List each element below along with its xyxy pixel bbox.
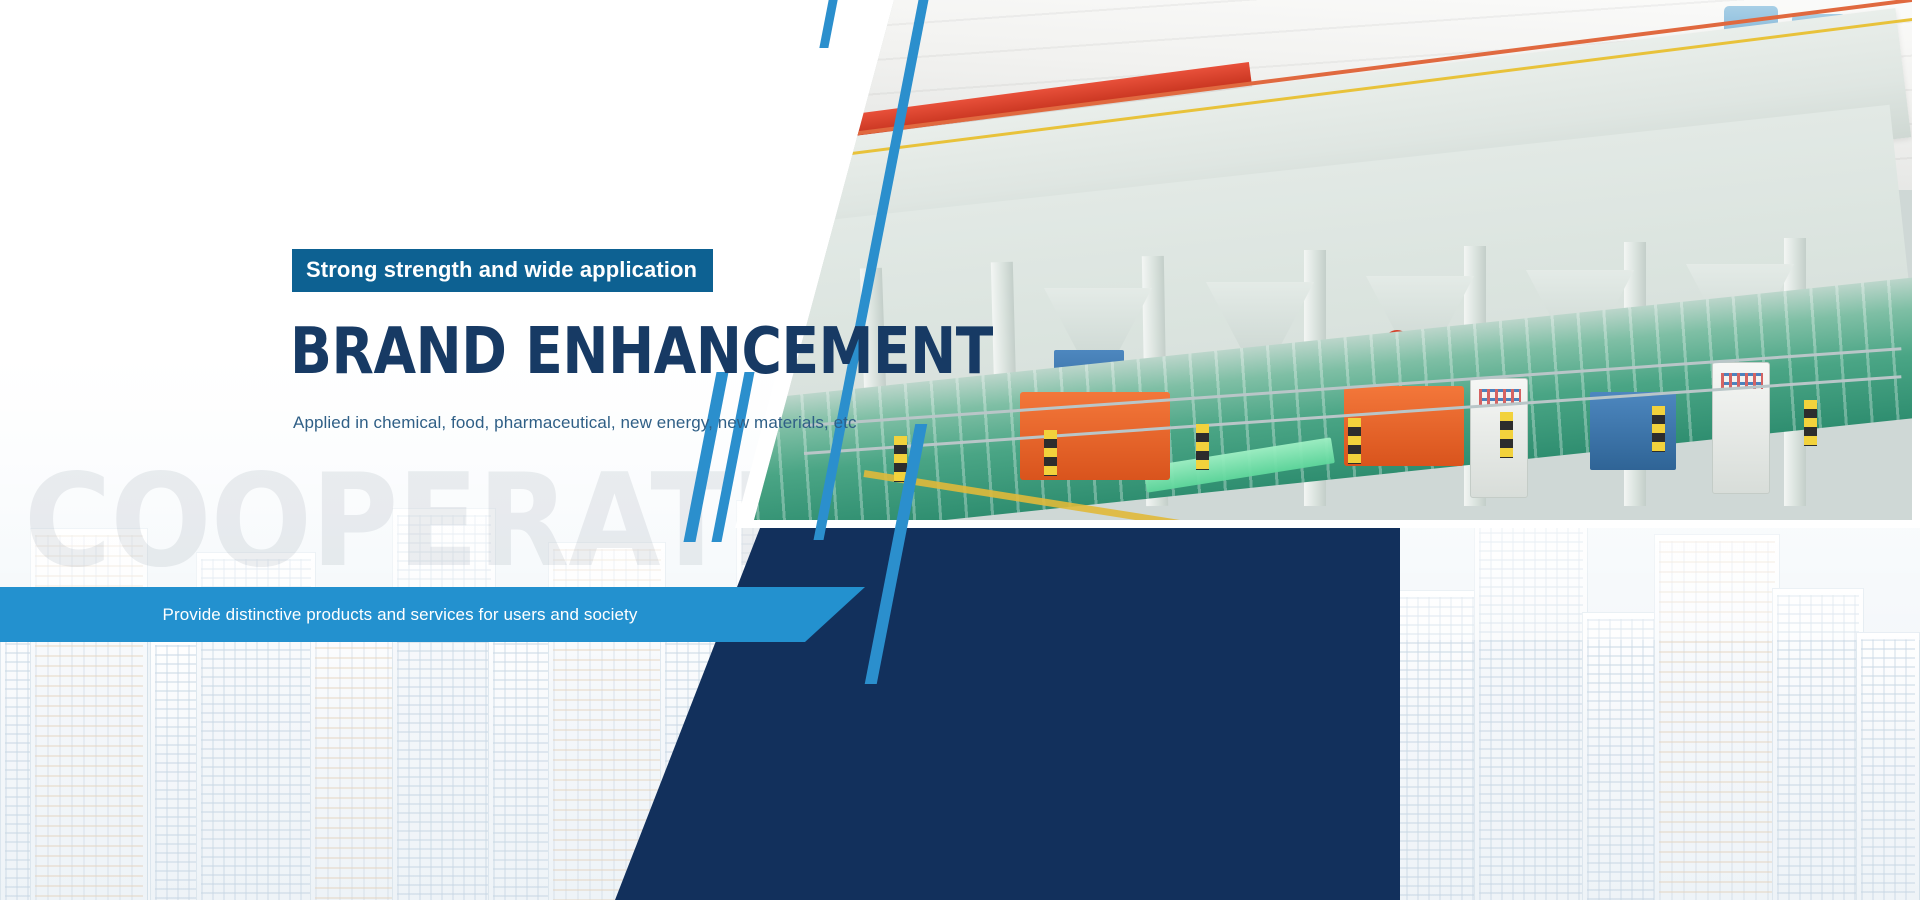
page-title: BRAND ENHANCEMENT	[290, 320, 993, 384]
page-subtitle: Applied in chemical, food, pharmaceutica…	[293, 413, 857, 433]
hero-banner: COOPERATION	[0, 0, 1920, 900]
ribbon-label: Provide distinctive products and service…	[0, 587, 800, 642]
tagline-badge: Strong strength and wide application	[292, 249, 713, 292]
